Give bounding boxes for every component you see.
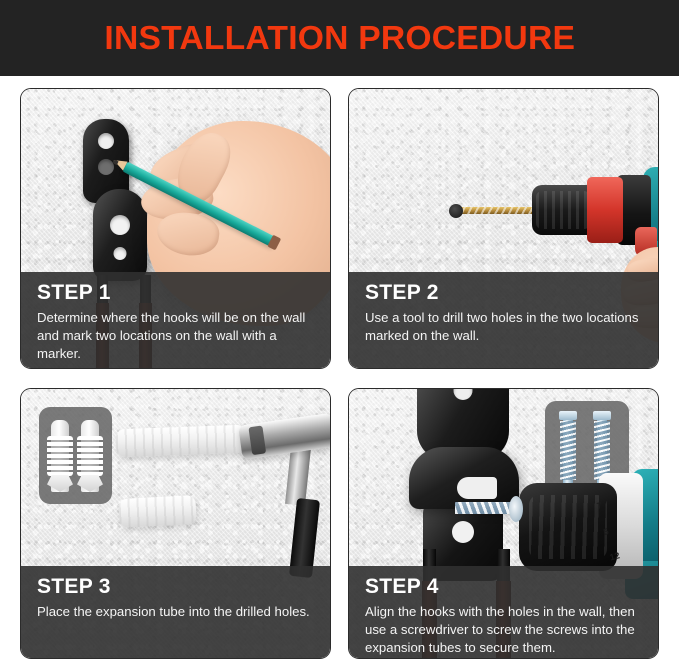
expansion-anchor-badge (39, 407, 112, 504)
screw-icon (563, 411, 573, 489)
torque-number: 5 (602, 527, 609, 537)
mounting-hole-icon (98, 133, 114, 149)
steps-grid: STEP 1 Determine where the hooks will be… (20, 88, 659, 659)
torque-number: 7 (596, 501, 603, 511)
step-1-label: STEP 1 (37, 282, 316, 304)
step-3-text: Place the expansion tube into the drille… (37, 603, 316, 621)
header-bar: INSTALLATION PROCEDURE (0, 0, 679, 76)
mounting-hole-icon (114, 247, 127, 260)
drilled-hole-icon (449, 204, 463, 218)
step-panel-3: STEP 3 Place the expansion tube into the… (20, 388, 331, 659)
expansion-anchor-icon (51, 420, 69, 492)
hook-bracket-lower-icon (93, 189, 147, 281)
step-3-label: STEP 3 (37, 576, 316, 598)
step-2-text: Use a tool to drill two holes in the two… (365, 309, 644, 345)
step-2-label: STEP 2 (365, 282, 644, 304)
expansion-anchor-icon (81, 420, 99, 492)
step-4-label: STEP 4 (365, 576, 644, 598)
mounting-hole-icon (110, 215, 130, 235)
step-4-caption: STEP 4 Align the hooks with the holes in… (349, 566, 658, 658)
hammer-head-icon (238, 412, 331, 459)
step-panel-2: STEP 2 Use a tool to drill two holes in … (348, 88, 659, 369)
hammer-neck-icon (285, 446, 311, 506)
step-panel-1: STEP 1 Determine where the hooks will be… (20, 88, 331, 369)
keyhole-slot-icon (457, 477, 497, 499)
page-title: INSTALLATION PROCEDURE (104, 19, 575, 57)
step-2-caption: STEP 2 Use a tool to drill two holes in … (349, 272, 658, 368)
step-1-caption: STEP 1 Determine where the hooks will be… (21, 272, 330, 368)
expansion-tube-small-icon (118, 495, 196, 528)
torque-number: 12 (609, 552, 621, 563)
screw-being-driven-icon (455, 502, 517, 514)
mounting-hole-icon (454, 388, 473, 400)
installation-procedure-infographic: INSTALLATION PROCEDURE (0, 0, 679, 665)
drill-torque-collar-icon (587, 177, 623, 243)
mounting-hole-icon (452, 521, 474, 543)
expansion-tube-large-icon (116, 425, 247, 458)
screw-head-washer-icon (509, 496, 523, 522)
drill-chuck-icon (532, 185, 594, 235)
step-3-caption: STEP 3 Place the expansion tube into the… (21, 566, 330, 658)
step-1-text: Determine where the hooks will be on the… (37, 309, 316, 364)
drill-bit-icon (457, 207, 535, 214)
step-panel-4: 7 5 12 STEP 4 Align the hooks with the h… (348, 388, 659, 659)
step-4-text: Align the hooks with the holes in the wa… (365, 603, 644, 658)
